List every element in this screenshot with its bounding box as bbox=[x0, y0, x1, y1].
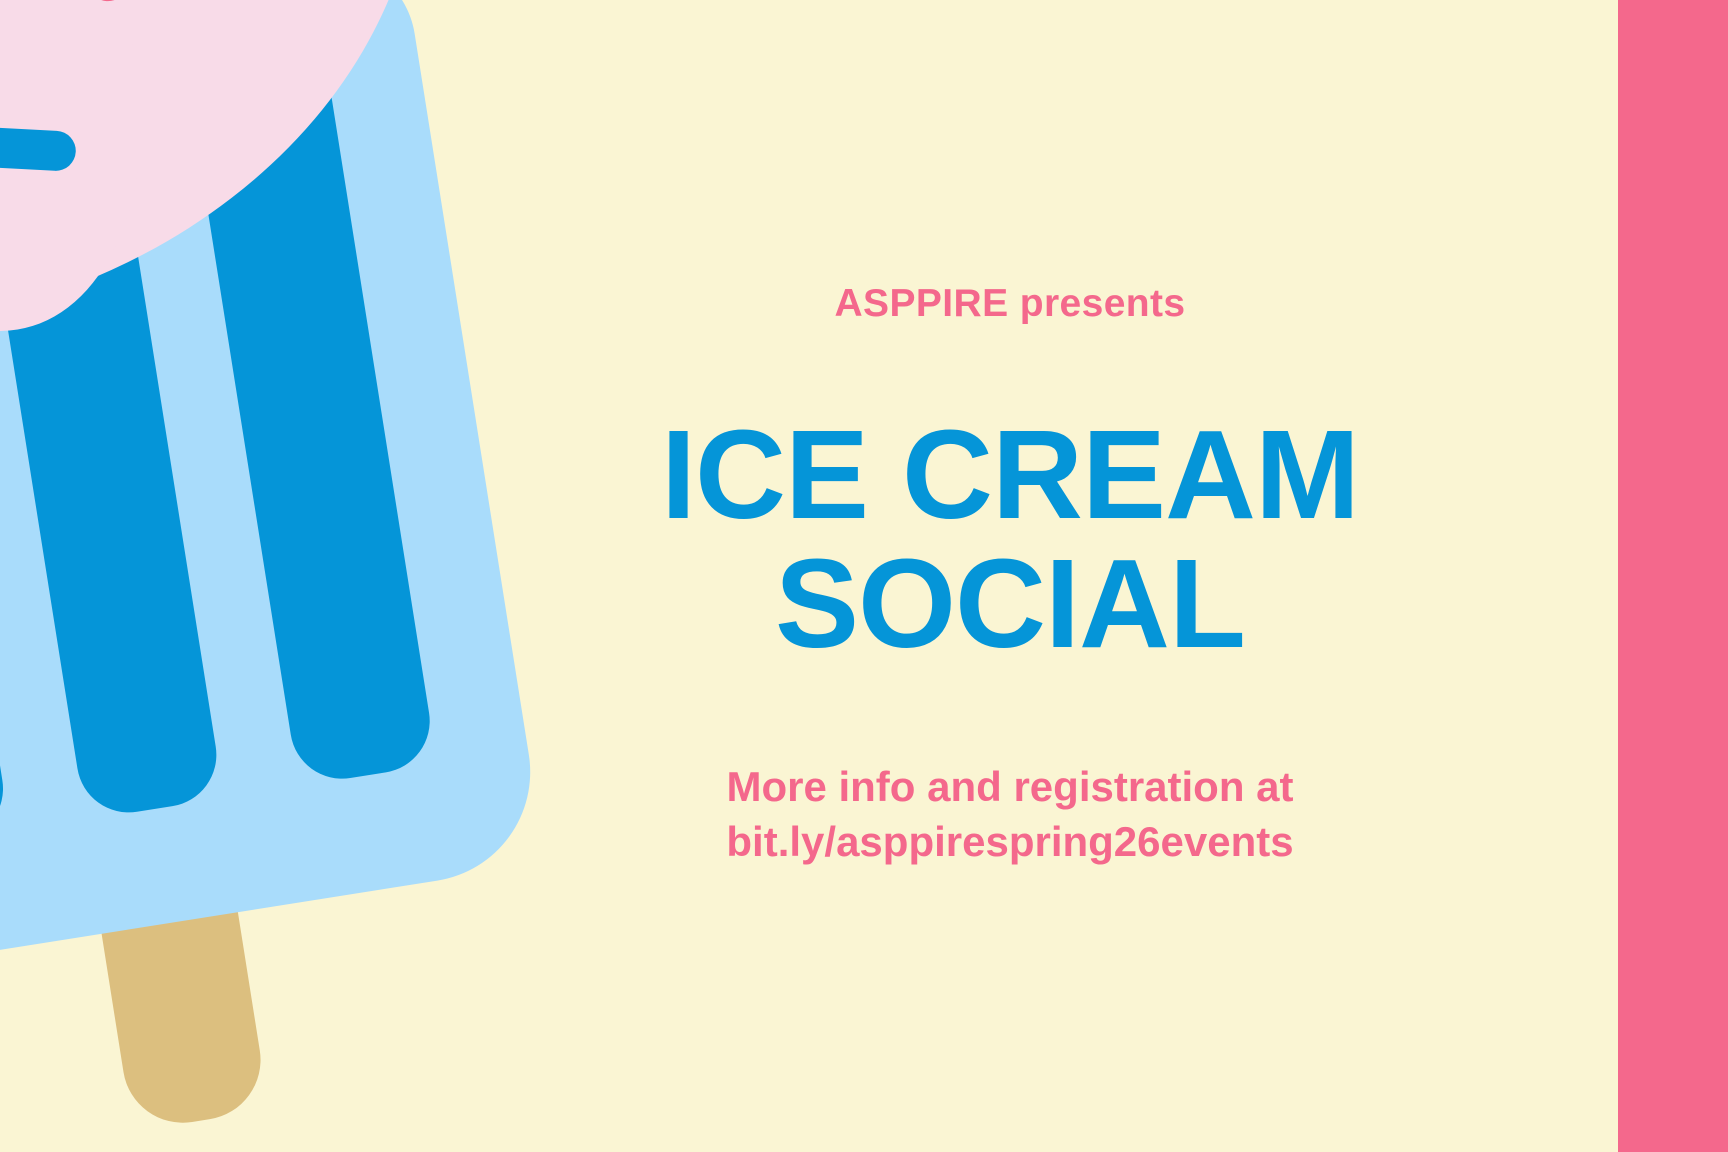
title-line-1: ICE CREAM bbox=[661, 411, 1359, 540]
poster-text-block: ASPPIRE presents ICE CREAM SOCIAL More i… bbox=[660, 0, 1360, 1152]
registration-url[interactable]: bit.ly/asppirespring26events bbox=[726, 814, 1293, 869]
registration-label: More info and registration at bbox=[726, 759, 1293, 814]
right-accent-bar bbox=[1618, 0, 1728, 1152]
registration-info: More info and registration at bit.ly/asp… bbox=[726, 759, 1293, 870]
ice-cream-popsicle-illustration bbox=[0, 0, 577, 1152]
title-line-2: SOCIAL bbox=[661, 540, 1359, 669]
page-title: ICE CREAM SOCIAL bbox=[661, 411, 1359, 668]
sprinkle-blue-left-icon bbox=[0, 126, 77, 172]
kicker-text: ASPPIRE presents bbox=[834, 283, 1185, 326]
poster-canvas: ASPPIRE presents ICE CREAM SOCIAL More i… bbox=[0, 0, 1728, 1152]
